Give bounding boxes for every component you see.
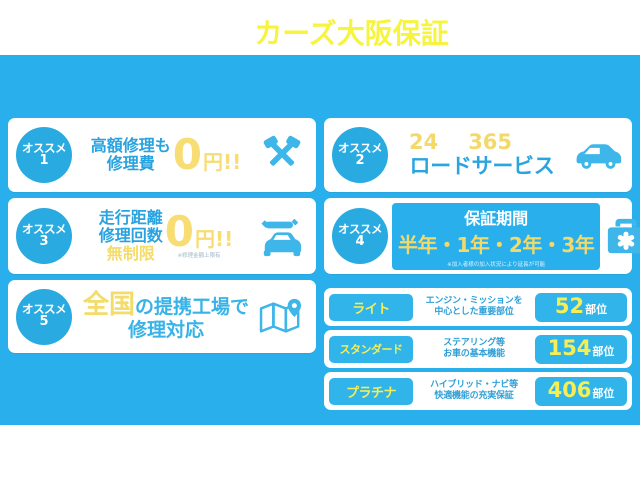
plan-desc-line1: エンジン・ミッションを (418, 296, 530, 307)
card-2-num-hours: 24 (409, 131, 438, 155)
plan-count-unit: 部位 (592, 388, 614, 399)
card-2-num-days: 365 (468, 131, 512, 155)
card-3-line1: 走行距離 (99, 209, 163, 227)
plan-count-number: 154 (548, 338, 592, 359)
map-pin-icon (256, 297, 308, 337)
card-1-text: 高額修理も 修理費 (91, 137, 171, 173)
card-3-amount-block: 0 円!! ※修理金額上限有 (165, 212, 233, 259)
plan-count-unit: 部位 (592, 346, 614, 357)
feature-row-2: オススメ 3 走行距離 修理回数 無制限 0 円!! ※修理金額上限有 (8, 198, 632, 274)
feature-card-2: オススメ 2 24 時間 365 日対応 ロードサービス (324, 118, 632, 192)
plan-desc-line2: 中心とした重要部位 (418, 307, 530, 318)
plan-name-pill: スタンダード (329, 336, 413, 363)
card-2-line2: ロードサービス (410, 155, 555, 179)
plan-name-pill: プラチナ (329, 378, 413, 405)
badge-number: 2 (355, 154, 364, 168)
card-5-text: 全国 の提携工場で 修理対応 (83, 291, 249, 341)
plan-count-badge: 52 部位 (535, 293, 627, 322)
headline-prefix: お得な (191, 24, 254, 48)
plan-desc-line2: お車の基本機能 (418, 349, 530, 360)
card-2-hours-unit: 時間 (439, 138, 467, 154)
card-1-line1: 高額修理も (91, 137, 171, 155)
plan-name-pill: ライト (329, 294, 413, 321)
card-4-note: ※加入者様の加入状況により延長が可能 (447, 260, 545, 268)
card-1-body: 高額修理も 修理費 0 円!! (76, 135, 256, 175)
feature-card-1: オススメ 1 高額修理も 修理費 0 円!! (8, 118, 316, 192)
card-1-line2: 修理費 (107, 155, 155, 173)
plan-count-unit: 部位 (585, 304, 607, 315)
card-3-line3: 無制限 (107, 245, 155, 263)
headline-main: カーズ大阪保証 (254, 17, 449, 50)
card-4-title: 保証期間 (464, 205, 528, 229)
badge-number: 1 (39, 154, 48, 168)
car-wrench-icon (256, 214, 308, 258)
card-1-amount-unit: 円!! (203, 153, 241, 172)
card-2-body: 24 時間 365 日対応 ロードサービス (392, 131, 572, 178)
card-5-highlight: 全国 (83, 291, 135, 320)
card-4-text: 保証期間 半年・1年・2年・3年 ※加入者様の加入状況により延長が可能 (392, 203, 600, 270)
card-5-line1-rest: の提携工場で (135, 297, 249, 318)
badge-number: 3 (39, 235, 48, 249)
plan-list: ライト エンジン・ミッションを 中心とした重要部位 52 部位 スタンダード ス… (324, 288, 632, 414)
plan-count-number: 52 (555, 296, 584, 317)
badge-number: 4 (355, 235, 364, 249)
headline: \ お得なカーズ大阪保証 / (0, 8, 640, 60)
plan-description: ステアリング等 お車の基本機能 (418, 338, 530, 361)
plan-desc-line1: ハイブリッド・ナビ等 (418, 380, 530, 391)
card-5-line1: 全国 の提携工場で (83, 291, 249, 320)
card-4-subtitle: 半年・1年・2年・3年 (398, 229, 594, 258)
card-3-note: ※修理金額上限有 (177, 253, 220, 259)
badge-5: オススメ 5 (16, 289, 72, 345)
card-2-line1: 24 時間 365 日対応 (409, 131, 555, 155)
card-2-text: 24 時間 365 日対応 ロードサービス (409, 131, 555, 178)
badge-3: オススメ 3 (16, 208, 72, 264)
card-4-body: 保証期間 半年・1年・2年・3年 ※加入者様の加入状況により延長が可能 (392, 203, 600, 270)
advertisement-canvas: \ お得なカーズ大阪保証 / オススメ 1 高額修理も 修理費 0 (0, 0, 640, 480)
crossed-hammers-icon (256, 132, 308, 178)
card-3-line2: 修理回数 (99, 227, 163, 245)
plan-count-number: 406 (548, 380, 592, 401)
headline-text: お得なカーズ大阪保証 (191, 20, 449, 48)
plan-count-badge: 154 部位 (535, 335, 627, 364)
slash-right-icon: / (455, 17, 467, 51)
feature-row-1: オススメ 1 高額修理も 修理費 0 円!! (8, 118, 632, 192)
plan-desc-line1: ステアリング等 (418, 338, 530, 349)
plan-description: エンジン・ミッションを 中心とした重要部位 (418, 296, 530, 319)
card-3-amount-group: 0 円!! (165, 212, 233, 252)
feature-card-5: オススメ 5 全国 の提携工場で 修理対応 (8, 280, 316, 353)
badge-1: オススメ 1 (16, 127, 72, 183)
slash-left-icon: \ (173, 17, 185, 51)
plan-row-light[interactable]: ライト エンジン・ミッションを 中心とした重要部位 52 部位 (324, 288, 632, 326)
feature-card-4: オススメ 4 保証期間 半年・1年・2年・3年 ※加入者様の加入状況により延長が… (324, 198, 632, 274)
badge-number: 5 (39, 315, 48, 329)
card-3-amount: 0 (165, 212, 194, 252)
feature-card-3: オススメ 3 走行距離 修理回数 無制限 0 円!! ※修理金額上限有 (8, 198, 316, 274)
plan-desc-line2: 快適機能の充実保証 (418, 391, 530, 402)
card-1-amount: 0 (173, 135, 202, 175)
toolbox-icon (600, 215, 640, 257)
plan-count-badge: 406 部位 (535, 377, 627, 406)
card-3-amount-unit: 円!! (195, 230, 233, 249)
plan-row-platinum[interactable]: プラチナ ハイブリッド・ナビ等 快適機能の充実保証 406 部位 (324, 372, 632, 410)
card-5-line2: 修理対応 (128, 320, 204, 341)
car-side-icon (572, 138, 624, 172)
card-3-text: 走行距離 修理回数 無制限 (99, 209, 163, 263)
plan-description: ハイブリッド・ナビ等 快適機能の充実保証 (418, 380, 530, 403)
badge-2: オススメ 2 (332, 127, 388, 183)
card-5-body: 全国 の提携工場で 修理対応 (76, 291, 256, 341)
card-3-body: 走行距離 修理回数 無制限 0 円!! ※修理金額上限有 (76, 209, 256, 263)
badge-4: オススメ 4 (332, 208, 388, 264)
plan-row-standard[interactable]: スタンダード ステアリング等 お車の基本機能 154 部位 (324, 330, 632, 368)
card-1-amount-group: 0 円!! (173, 135, 241, 175)
card-2-days-unit: 日対応 (513, 138, 555, 154)
